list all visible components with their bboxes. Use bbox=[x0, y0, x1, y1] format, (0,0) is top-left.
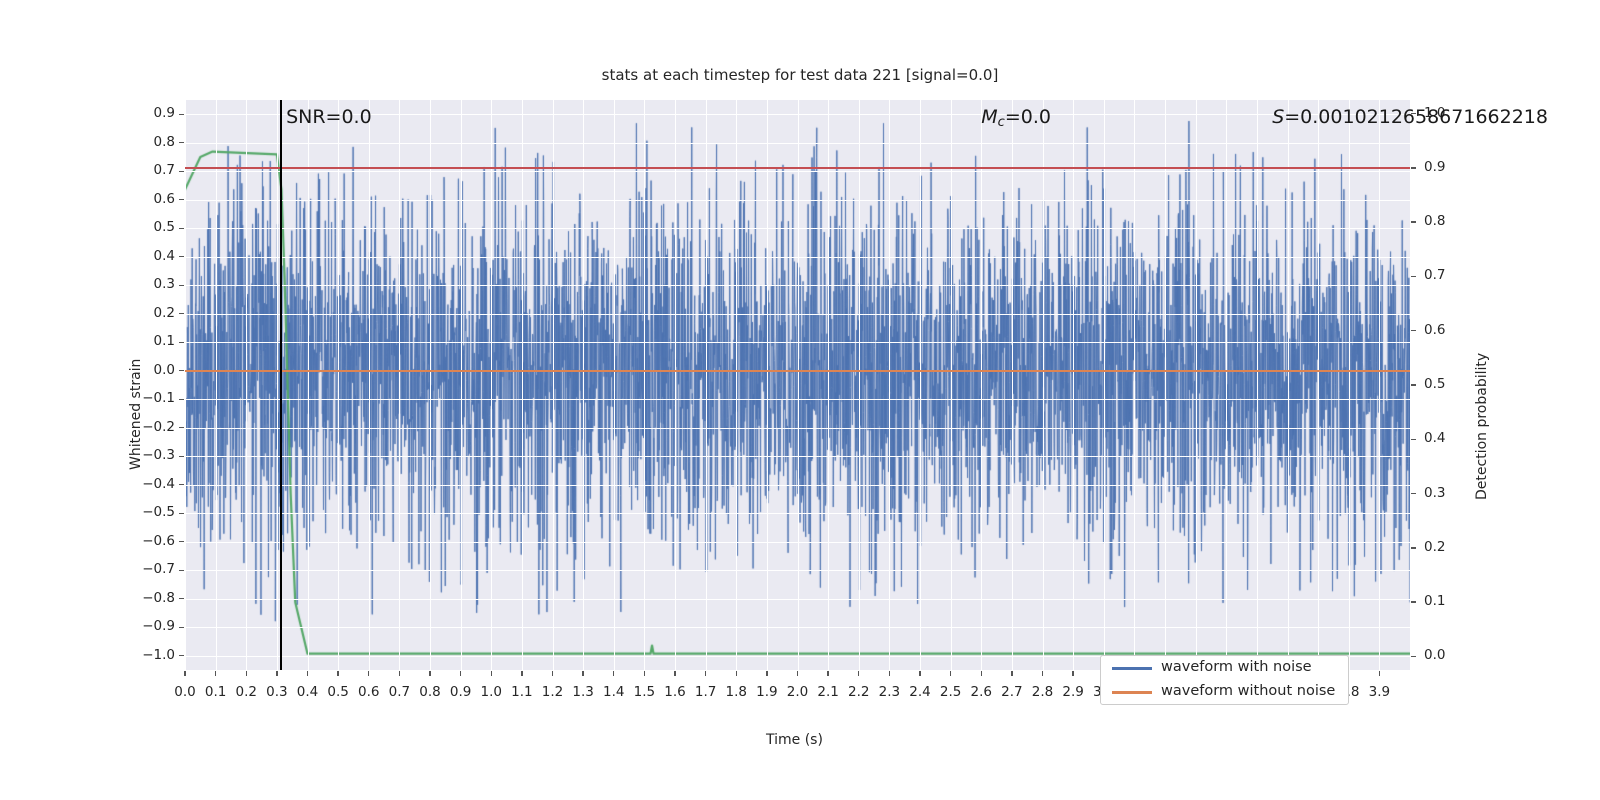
gridline-v bbox=[767, 100, 768, 670]
y-tick-right bbox=[1411, 439, 1416, 440]
gridline-v bbox=[461, 100, 462, 670]
y-tick-right bbox=[1411, 547, 1416, 548]
gridline-v bbox=[1073, 100, 1074, 670]
y-tick-right bbox=[1411, 384, 1416, 385]
gridline-v bbox=[369, 100, 370, 670]
y-tick-label-left: 0.5 bbox=[133, 219, 175, 235]
y-tick-left bbox=[179, 256, 184, 257]
gridline-v bbox=[675, 100, 676, 670]
gridline-v bbox=[1165, 100, 1166, 670]
y-tick-left bbox=[179, 171, 184, 172]
x-tick bbox=[827, 671, 828, 676]
gridline-v bbox=[308, 100, 309, 670]
gridline-v bbox=[1012, 100, 1013, 670]
x-tick bbox=[337, 671, 338, 676]
x-tick bbox=[429, 671, 430, 676]
y-tick-left bbox=[179, 570, 184, 571]
y-tick-label-left: −0.3 bbox=[133, 447, 175, 463]
y-tick-left bbox=[179, 114, 184, 115]
y-tick-left bbox=[179, 285, 184, 286]
gridline-v bbox=[1379, 100, 1380, 670]
legend-item: waveform without noise bbox=[1101, 680, 1348, 704]
y-tick-label-left: −0.1 bbox=[133, 390, 175, 406]
zero-line-waveform-without-noise bbox=[185, 370, 1410, 372]
threshold-line bbox=[185, 167, 1410, 169]
y-tick-left bbox=[179, 598, 184, 599]
x-tick bbox=[521, 671, 522, 676]
y-tick-label-left: −0.9 bbox=[133, 618, 175, 634]
y-tick-label-left: 0.2 bbox=[133, 305, 175, 321]
x-tick bbox=[368, 671, 369, 676]
x-tick bbox=[215, 671, 216, 676]
y-tick-label-left: −0.7 bbox=[133, 561, 175, 577]
y-tick-right bbox=[1411, 601, 1416, 602]
y-tick-left bbox=[179, 342, 184, 343]
gridline-v bbox=[553, 100, 554, 670]
gridline-v bbox=[1257, 100, 1258, 670]
y-tick-right bbox=[1411, 167, 1416, 168]
x-tick bbox=[491, 671, 492, 676]
x-tick bbox=[674, 671, 675, 676]
x-tick bbox=[797, 671, 798, 676]
y-axis-right-title: Detection probability bbox=[1474, 353, 1490, 500]
gridline-v bbox=[889, 100, 890, 670]
gridline-v bbox=[1196, 100, 1197, 670]
y-tick-label-right: 0.3 bbox=[1424, 485, 1445, 501]
gridline-v bbox=[185, 100, 186, 670]
y-tick-label-right: 0.5 bbox=[1424, 376, 1445, 392]
y-tick-left bbox=[179, 456, 184, 457]
legend-item: waveform with noise bbox=[1101, 656, 1348, 680]
y-tick-left bbox=[179, 513, 184, 514]
y-tick-label-left: 0.3 bbox=[133, 276, 175, 292]
gridline-v bbox=[706, 100, 707, 670]
annotation-chirp-mass: Mc=0.0 bbox=[981, 106, 1051, 130]
annotation-snr: SNR=0.0 bbox=[286, 106, 372, 128]
y-tick-label-left: −0.5 bbox=[133, 504, 175, 520]
x-tick bbox=[552, 671, 553, 676]
current-timestep-marker bbox=[280, 100, 282, 670]
x-tick bbox=[858, 671, 859, 676]
y-tick-label-right: 0.6 bbox=[1424, 322, 1445, 338]
y-tick-label-right: 0.0 bbox=[1424, 647, 1445, 663]
chart-title: stats at each timestep for test data 221… bbox=[0, 66, 1600, 84]
legend-label: waveform with noise bbox=[1161, 659, 1312, 675]
gridline-v bbox=[277, 100, 278, 670]
y-tick-label-left: −0.4 bbox=[133, 476, 175, 492]
y-tick-label-left: 0.4 bbox=[133, 248, 175, 264]
x-tick bbox=[460, 671, 461, 676]
gridline-v bbox=[246, 100, 247, 670]
gridline-v bbox=[859, 100, 860, 670]
x-tick bbox=[1042, 671, 1043, 676]
x-tick bbox=[1011, 671, 1012, 676]
y-tick-right bbox=[1411, 276, 1416, 277]
x-tick bbox=[950, 671, 951, 676]
gridline-v bbox=[583, 100, 584, 670]
gridline-v bbox=[1043, 100, 1044, 670]
y-tick-label-left: 0.6 bbox=[133, 191, 175, 207]
gridline-v bbox=[1288, 100, 1289, 670]
gridline-v bbox=[491, 100, 492, 670]
legend[interactable]: waveform with noise waveform without noi… bbox=[1100, 655, 1349, 705]
gridline-v bbox=[981, 100, 982, 670]
gridline-v bbox=[1349, 100, 1350, 670]
plot-area[interactable] bbox=[185, 100, 1410, 670]
x-tick bbox=[705, 671, 706, 676]
y-tick-label-right: 0.1 bbox=[1424, 593, 1445, 609]
gridline-v bbox=[1226, 100, 1227, 670]
x-tick-label: 3.9 bbox=[1359, 684, 1399, 700]
y-tick-label-right: 0.2 bbox=[1424, 539, 1445, 555]
legend-swatch-waveform-with-noise bbox=[1112, 667, 1152, 670]
gridline-v bbox=[828, 100, 829, 670]
y-tick-label-left: −0.6 bbox=[133, 533, 175, 549]
gridline-v bbox=[338, 100, 339, 670]
y-tick-label-left: −0.8 bbox=[133, 590, 175, 606]
gridline-v bbox=[951, 100, 952, 670]
y-tick-left bbox=[179, 655, 184, 656]
y-tick-label-left: −0.2 bbox=[133, 419, 175, 435]
y-tick-left bbox=[179, 399, 184, 400]
gridline-v bbox=[1318, 100, 1319, 670]
y-tick-left bbox=[179, 313, 184, 314]
y-tick-label-right: 0.7 bbox=[1424, 267, 1445, 283]
x-tick bbox=[246, 671, 247, 676]
legend-swatch-waveform-without-noise bbox=[1112, 691, 1152, 694]
y-tick-label-right: 0.8 bbox=[1424, 213, 1445, 229]
y-tick-right bbox=[1411, 656, 1416, 657]
gridline-v bbox=[920, 100, 921, 670]
gridline-v bbox=[399, 100, 400, 670]
y-tick-right bbox=[1411, 221, 1416, 222]
gridline-v bbox=[522, 100, 523, 670]
x-axis-title: Time (s) bbox=[766, 732, 823, 748]
y-tick-label-left: 0.8 bbox=[133, 134, 175, 150]
x-tick bbox=[1072, 671, 1073, 676]
x-tick bbox=[736, 671, 737, 676]
y-tick-left bbox=[179, 541, 184, 542]
y-tick-right bbox=[1411, 330, 1416, 331]
y-tick-label-left: 0.1 bbox=[133, 333, 175, 349]
x-tick bbox=[399, 671, 400, 676]
x-tick bbox=[1379, 671, 1380, 676]
y-tick-left bbox=[179, 370, 184, 371]
y-tick-label-left: 0.9 bbox=[133, 105, 175, 121]
x-tick bbox=[307, 671, 308, 676]
x-tick bbox=[276, 671, 277, 676]
y-tick-left bbox=[179, 484, 184, 485]
y-tick-left bbox=[179, 228, 184, 229]
gridline-v bbox=[216, 100, 217, 670]
figure-canvas: stats at each timestep for test data 221… bbox=[0, 0, 1600, 800]
y-tick-label-left: 0.7 bbox=[133, 162, 175, 178]
y-tick-left bbox=[179, 199, 184, 200]
y-tick-left bbox=[179, 427, 184, 428]
x-tick bbox=[981, 671, 982, 676]
x-tick bbox=[644, 671, 645, 676]
x-tick bbox=[889, 671, 890, 676]
gridline-v bbox=[614, 100, 615, 670]
gridline-v bbox=[644, 100, 645, 670]
y-tick-label-right: 0.4 bbox=[1424, 430, 1445, 446]
annotation-score: S=0.0010212658671662218 bbox=[1272, 106, 1548, 128]
y-tick-right bbox=[1411, 493, 1416, 494]
y-tick-label-right: 0.9 bbox=[1424, 159, 1445, 175]
y-tick-left bbox=[179, 142, 184, 143]
gridline-v bbox=[736, 100, 737, 670]
y-tick-left bbox=[179, 627, 184, 628]
gridline-v bbox=[430, 100, 431, 670]
x-tick bbox=[613, 671, 614, 676]
legend-label: waveform without noise bbox=[1161, 683, 1335, 699]
gridline-v bbox=[1134, 100, 1135, 670]
y-tick-label-left: 0.0 bbox=[133, 362, 175, 378]
gridline-v bbox=[1104, 100, 1105, 670]
y-tick-label-left: −1.0 bbox=[133, 647, 175, 663]
x-tick bbox=[184, 671, 185, 676]
x-tick bbox=[766, 671, 767, 676]
x-tick bbox=[582, 671, 583, 676]
x-tick bbox=[919, 671, 920, 676]
gridline-v bbox=[798, 100, 799, 670]
